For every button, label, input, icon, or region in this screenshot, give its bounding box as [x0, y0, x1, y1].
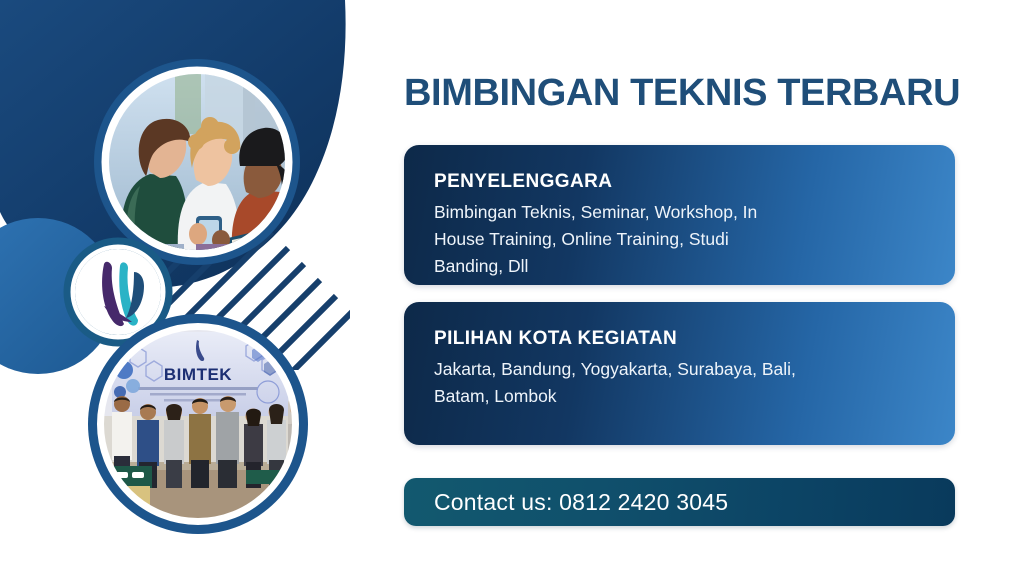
poster-canvas: BIMTEK — [0, 0, 1024, 576]
contact-bar[interactable]: Contact us: 0812 2420 3045 — [404, 478, 955, 526]
svg-text:BIMTEK: BIMTEK — [164, 365, 232, 384]
card-penyelenggara-body: Bimbingan Teknis, Seminar, Workshop, In … — [434, 199, 794, 280]
contact-text: Contact us: 0812 2420 3045 — [434, 489, 728, 516]
content-column: BIMBINGAN TEKNIS TERBARU PENYELENGGARA B… — [404, 0, 1024, 576]
decorative-artwork: BIMTEK — [0, 0, 400, 576]
photo-circle-top — [94, 59, 300, 265]
card-pilihan-kota-title: PILIHAN KOTA KEGIATAN — [434, 328, 925, 350]
photo-circle-bottom: BIMTEK — [88, 314, 308, 534]
card-penyelenggara-title: PENYELENGGARA — [434, 171, 925, 193]
card-penyelenggara: PENYELENGGARA Bimbingan Teknis, Seminar,… — [404, 145, 955, 285]
page-title: BIMBINGAN TEKNIS TERBARU — [404, 72, 964, 115]
card-pilihan-kota-kegiatan: PILIHAN KOTA KEGIATAN Jakarta, Bandung, … — [404, 302, 955, 445]
card-pilihan-kota-body: Jakarta, Bandung, Yogyakarta, Surabaya, … — [434, 356, 854, 410]
